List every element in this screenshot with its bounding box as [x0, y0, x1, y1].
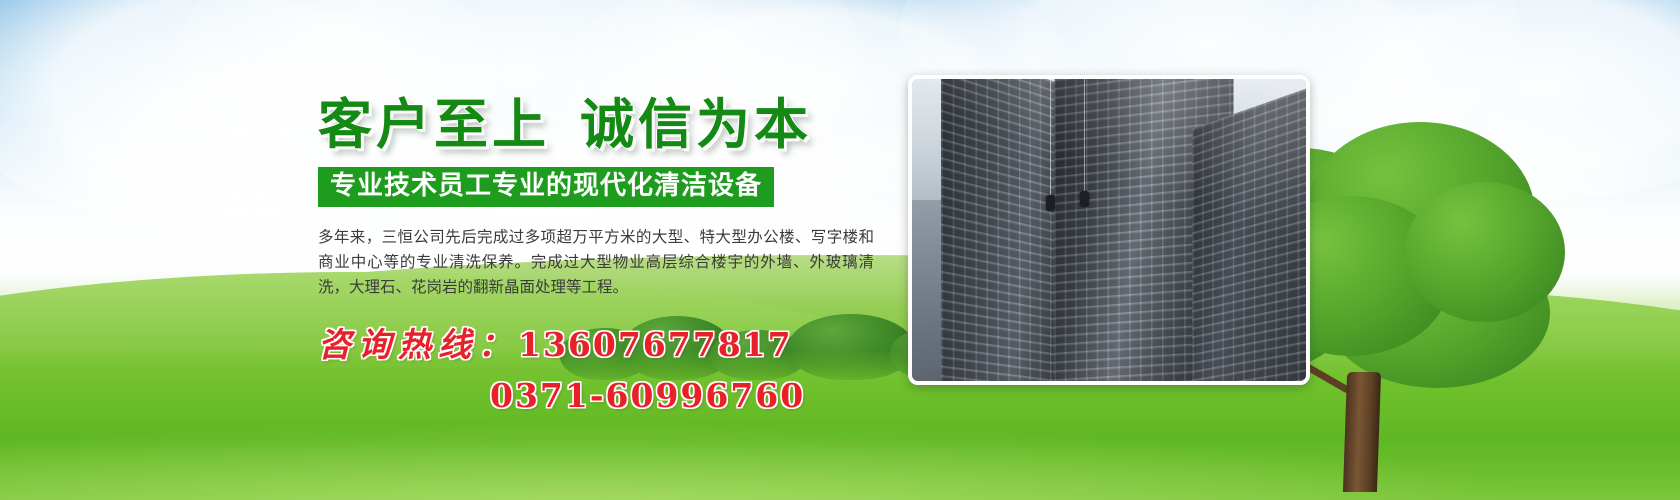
banner-text-block: 客户至上诚信为本 专业技术员工专业的现代化清洁设备 多年来，三恒公司先后完成过多… — [318, 96, 898, 415]
subtitle-bar: 专业技术员工专业的现代化清洁设备 — [318, 167, 774, 208]
hotline-group: 咨询热线：13607677817 0371-60996760 — [318, 318, 898, 415]
tower-right — [1193, 88, 1306, 381]
hotline-label: 咨询热线： — [318, 325, 518, 364]
headline-left: 客户至上 — [318, 92, 550, 156]
rope-access-worker — [1080, 191, 1089, 207]
description-paragraph: 多年来，三恒公司先后完成过多项超万平方米的大型、特大型办公楼、写字楼和商业中心等… — [318, 225, 874, 300]
hotline-primary: 咨询热线：13607677817 — [318, 318, 898, 366]
worker-rope — [1084, 79, 1085, 195]
subtitle-text: 专业技术员工专业的现代化清洁设备 — [330, 171, 762, 201]
headline: 客户至上诚信为本 — [318, 96, 898, 153]
rope-access-worker — [1046, 195, 1055, 211]
headline-right: 诚信为本 — [580, 92, 812, 156]
promo-banner: 客户至上诚信为本 专业技术员工专业的现代化清洁设备 多年来，三恒公司先后完成过多… — [0, 0, 1680, 500]
tree-trunk — [1343, 372, 1381, 492]
hotline-secondary: 0371-60996760 — [318, 376, 898, 415]
hotline-mobile-number: 13607677817 — [518, 325, 793, 364]
high-rise-building-exterior-cleaning-photo — [912, 79, 1306, 381]
hotline-landline-number: 0371-60996760 — [490, 376, 805, 415]
building-photo-card — [908, 75, 1310, 385]
worker-rope — [1050, 79, 1051, 197]
